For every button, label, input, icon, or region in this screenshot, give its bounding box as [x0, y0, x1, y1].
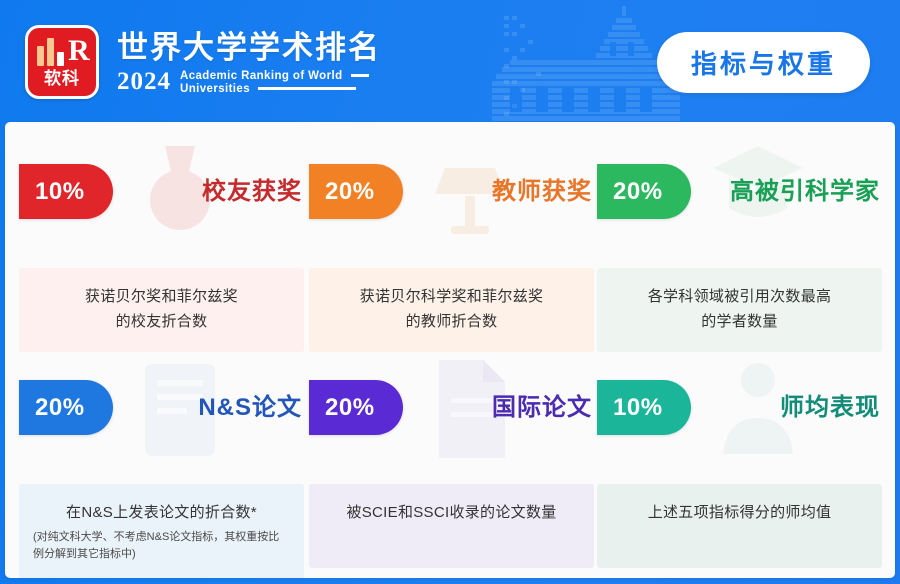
weight-percentage-value: 20% — [35, 394, 85, 422]
indicator-description-note: (对纯文科大学、不考虑N&S论文指标，其权重按比例分解到其它指标中) — [33, 529, 290, 563]
indicator-title: 高被引科学家 — [730, 171, 880, 206]
weight-percentage-badge: 20% — [309, 164, 403, 219]
indicator-description-line: 在N&S上发表论文的折合数* — [33, 500, 290, 525]
indicator-description: 被SCIE和SSCI收录的论文数量 — [309, 484, 594, 568]
indicator-title: 教师获奖 — [492, 171, 592, 206]
indicator-grid: 10%校友获奖获诺贝尔奖和菲尔兹奖的校友折合数20%教师获奖获诺贝尔科学奖和菲尔… — [5, 122, 895, 578]
section-pill-label: 指标与权重 — [691, 49, 836, 79]
indicator-description: 各学科领域被引用次数最高的学者数量 — [597, 268, 882, 352]
indicator-description-line: 的学者数量 — [611, 309, 868, 334]
indicator-title: 国际论文 — [492, 387, 592, 422]
indicator-title: 师均表现 — [780, 387, 880, 422]
page-title: 世界大学学术排名 — [117, 30, 381, 66]
indicator-description-line: 的校友折合数 — [33, 309, 290, 334]
indicator-description-line: 获诺贝尔科学奖和菲尔兹奖 — [323, 284, 580, 309]
logo-letter: R — [68, 36, 90, 66]
ruanke-logo-icon: R 软科 — [25, 25, 99, 99]
indicator-card-header: 20%高被引科学家 — [597, 138, 882, 268]
weight-percentage-badge: 20% — [309, 380, 403, 435]
indicator-description-line: 上述五项指标得分的师均值 — [611, 500, 868, 525]
weight-percentage-value: 20% — [325, 394, 375, 422]
logo-bars-icon — [37, 38, 64, 66]
section-pill-indicators-weights: 指标与权重 — [657, 32, 870, 93]
title-rule-decoration-2 — [258, 87, 356, 90]
indicator-description-line: 各学科领域被引用次数最高 — [611, 284, 868, 309]
indicator-description-line: 被SCIE和SSCI收录的论文数量 — [323, 500, 580, 525]
indicator-card: 20%教师获奖获诺贝尔科学奖和菲尔兹奖的教师折合数 — [309, 138, 594, 352]
indicator-card-header: 10%校友获奖 — [19, 138, 304, 268]
weight-percentage-value: 10% — [613, 394, 663, 422]
indicator-card: 20%高被引科学家各学科领域被引用次数最高的学者数量 — [597, 138, 882, 352]
weight-percentage-badge: 10% — [597, 380, 691, 435]
indicator-card-header: 10%师均表现 — [597, 354, 882, 484]
logo-brand-text: 软科 — [28, 64, 96, 89]
indicator-card-header: 20%教师获奖 — [309, 138, 594, 268]
indicator-description: 上述五项指标得分的师均值 — [597, 484, 882, 568]
indicator-card: 10%师均表现上述五项指标得分的师均值 — [597, 354, 882, 568]
weight-percentage-badge: 10% — [19, 164, 113, 219]
page-header: R 软科 世界大学学术排名 2024 Academic Ranking of W… — [0, 0, 900, 124]
indicator-card-header: 20%国际论文 — [309, 354, 594, 484]
weight-percentage-value: 20% — [325, 178, 375, 206]
title-english-line1: Academic Ranking of World — [180, 70, 343, 82]
indicator-title: N&S论文 — [198, 387, 302, 422]
brand-lockup: R 软科 世界大学学术排名 2024 Academic Ranking of W… — [25, 25, 381, 99]
infographic-root: R 软科 世界大学学术排名 2024 Academic Ranking of W… — [0, 0, 900, 584]
indicator-card-header: 20%N&S论文 — [19, 354, 304, 484]
title-english-line2: Universities — [180, 83, 250, 95]
weight-percentage-badge: 20% — [597, 164, 691, 219]
indicator-card: 10%校友获奖获诺贝尔奖和菲尔兹奖的校友折合数 — [19, 138, 304, 352]
indicator-description: 在N&S上发表论文的折合数*(对纯文科大学、不考虑N&S论文指标，其权重按比例分… — [19, 484, 304, 578]
indicator-description-line: 获诺贝尔奖和菲尔兹奖 — [33, 284, 290, 309]
indicator-card: 20%N&S论文在N&S上发表论文的折合数*(对纯文科大学、不考虑N&S论文指标… — [19, 354, 304, 578]
indicator-card: 20%国际论文被SCIE和SSCI收录的论文数量 — [309, 354, 594, 568]
weight-percentage-badge: 20% — [19, 380, 113, 435]
indicator-description: 获诺贝尔科学奖和菲尔兹奖的教师折合数 — [309, 268, 594, 352]
content-panel: 10%校友获奖获诺贝尔奖和菲尔兹奖的校友折合数20%教师获奖获诺贝尔科学奖和菲尔… — [5, 122, 895, 578]
title-rule-decoration — [351, 74, 369, 77]
indicator-description: 获诺贝尔奖和菲尔兹奖的校友折合数 — [19, 268, 304, 352]
title-block: 世界大学学术排名 2024 Academic Ranking of World … — [117, 28, 381, 96]
title-english: Academic Ranking of World Universities — [180, 69, 369, 96]
indicator-description-line: 的教师折合数 — [323, 309, 580, 334]
weight-percentage-value: 20% — [613, 178, 663, 206]
indicator-title: 校友获奖 — [202, 171, 302, 206]
weight-percentage-value: 10% — [35, 178, 85, 206]
edition-year: 2024 — [117, 69, 180, 94]
